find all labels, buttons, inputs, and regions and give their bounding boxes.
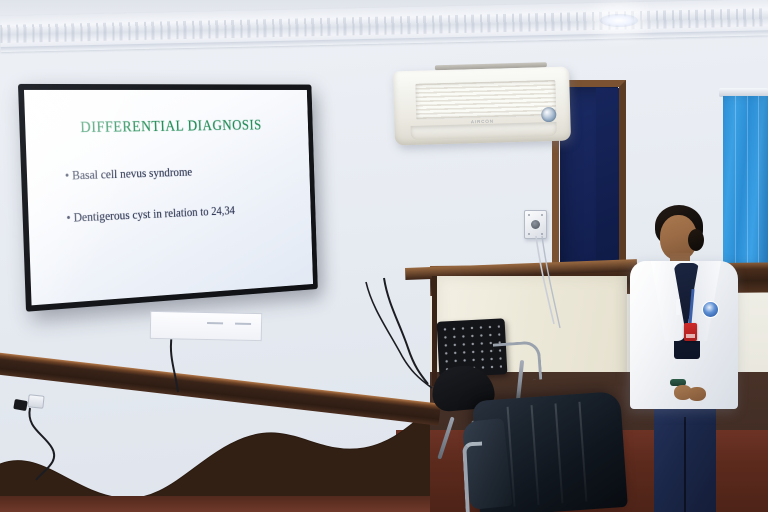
room-scene: DIFFERENTIAL DIAGNOSIS Basal cell nevus … <box>0 0 768 512</box>
ac-body: AIRCON <box>393 67 571 146</box>
recessed-ceiling-light-icon <box>600 14 638 27</box>
institution-emblem-icon <box>702 301 719 318</box>
id-badge <box>684 323 697 341</box>
ac-intake-grille <box>415 80 556 120</box>
slide-title: DIFFERENTIAL DIAGNOSIS <box>25 117 308 138</box>
whiteboard-edge <box>150 311 263 341</box>
tv-bezel: DIFFERENTIAL DIAGNOSIS Basal cell nevus … <box>18 84 318 312</box>
presenter-hair-bun <box>688 229 704 251</box>
presenter-standing <box>630 203 738 512</box>
split-air-conditioner[interactable]: AIRCON <box>393 67 571 146</box>
tv-cable-bundle <box>296 260 436 400</box>
presenter-trouser-seam <box>684 417 686 512</box>
presenter-hand-right <box>688 387 706 401</box>
slide-bullet-2: Dentigerous cyst in relation to 24,34 <box>66 201 298 226</box>
ac-air-louver[interactable] <box>411 122 557 140</box>
slide-bullet-list: Basal cell nevus syndrome Dentigerous cy… <box>65 162 299 253</box>
tv-screen: DIFFERENTIAL DIAGNOSIS Basal cell nevus … <box>24 90 313 305</box>
ac-status-indicator-icon <box>541 107 556 122</box>
leather-armchair[interactable] <box>462 396 638 512</box>
slide-bullet-1: Basal cell nevus syndrome <box>65 162 297 183</box>
pocket-pen <box>676 299 680 315</box>
switch-knob-icon[interactable] <box>531 220 540 229</box>
wall-mounted-flat-panel-television[interactable]: DIFFERENTIAL DIAGNOSIS Basal cell nevus … <box>18 84 318 312</box>
armchair-chrome-frame <box>462 442 486 512</box>
